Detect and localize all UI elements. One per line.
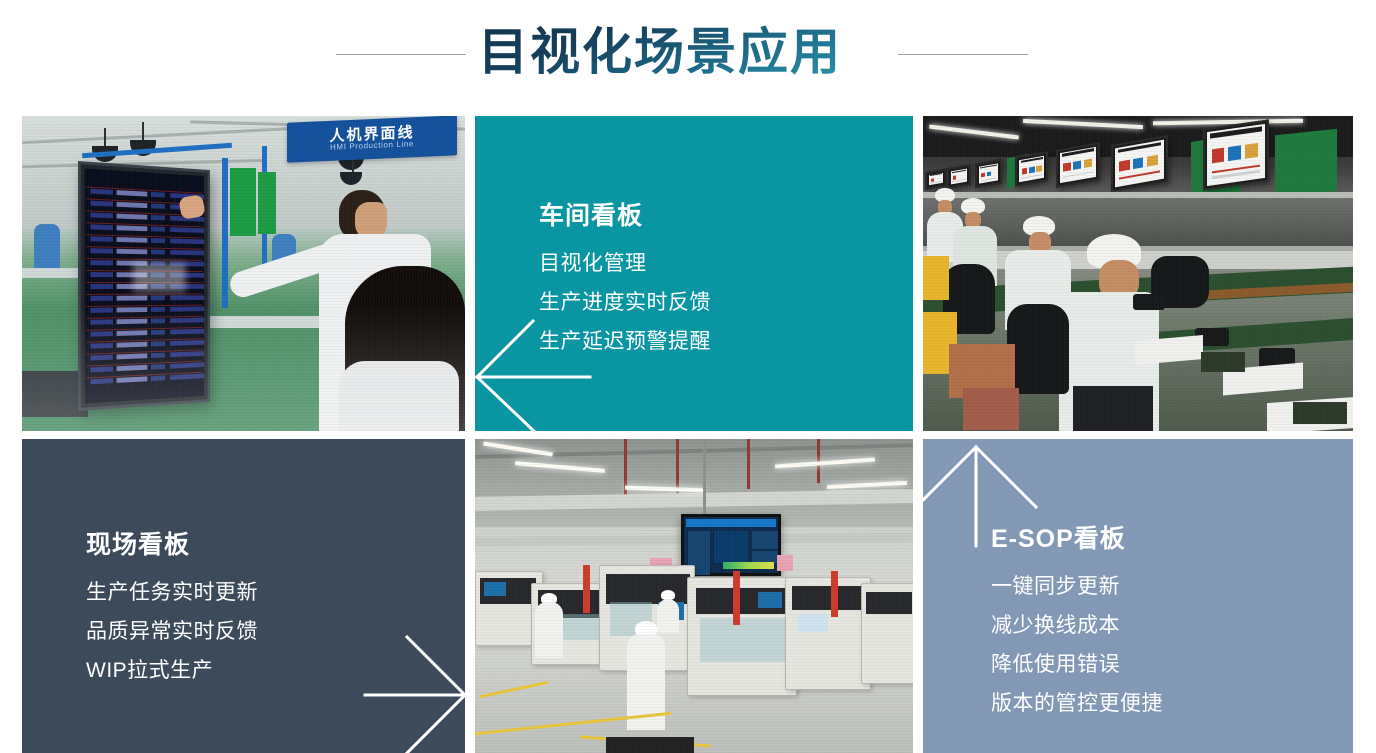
esop-monitor [1111, 135, 1168, 192]
hmi-line-banner: 人机界面线 HMI Production Line [287, 116, 457, 163]
page-header: 目视化场景应用 [0, 0, 1376, 112]
page-title: 目视化场景应用 [478, 22, 842, 82]
esop-kanban-line-1: 一键同步更新 [991, 567, 1163, 606]
cardboard-box [963, 388, 1019, 430]
card-site-kanban: 现场看板 生产任务实时更新 品质异常实时反馈 WIP拉式生产 [22, 439, 465, 753]
photo-card-smt-floor [475, 439, 913, 753]
card-esop-kanban: E-SOP看板 一键同步更新 减少换线成本 降低使用错误 版本的管控更便捷 [923, 439, 1353, 753]
site-kanban-line-3: WIP拉式生产 [86, 651, 258, 690]
photo-esop-line-image [923, 116, 1353, 431]
photo-kanban-board-image: 人机界面线 HMI Production Line [22, 116, 465, 431]
work-mat [1135, 335, 1203, 365]
esop-monitor [947, 164, 971, 189]
esop-monitor [1203, 119, 1269, 190]
pcb-board [1293, 402, 1347, 424]
site-kanban-heading: 现场看板 [86, 530, 258, 560]
monitor-progress-bar [723, 562, 774, 569]
smt-machine [861, 583, 913, 683]
workshop-kanban-panel: 车间看板 目视化管理 生产进度实时反馈 生产延迟预警提醒 [475, 116, 913, 431]
esop-monitor [975, 159, 1002, 189]
worker-trousers [1073, 386, 1153, 431]
esop-kanban-heading: E-SOP看板 [991, 524, 1163, 554]
esop-monitor [1015, 151, 1048, 187]
green-panel [230, 168, 256, 236]
zone-sign [777, 555, 793, 571]
page-root: 目视化场景应用 人机界面线 HMI Production Line [0, 0, 1376, 753]
smt-machine [785, 577, 871, 690]
workshop-kanban-line-1: 目视化管理 [539, 244, 711, 283]
photo-card-kanban-board: 人机界面线 HMI Production Line [22, 116, 465, 431]
esop-kanban-line-2: 减少换线成本 [991, 606, 1163, 645]
monitor-mount [703, 439, 706, 514]
ceiling-monitor [681, 514, 781, 576]
workshop-kanban-text: 车间看板 目视化管理 生产进度实时反馈 生产延迟预警提醒 [539, 201, 711, 361]
worker-gown [657, 599, 679, 633]
esop-kanban-panel: E-SOP看板 一键同步更新 减少换线成本 降低使用错误 版本的管控更便捷 [923, 439, 1353, 753]
yellow-bin [923, 256, 949, 300]
title-rule-right-decoration [898, 54, 1028, 55]
photo-card-esop-line [923, 116, 1353, 431]
photo-smt-floor-image [475, 439, 913, 753]
card-workshop-kanban: 车间看板 目视化管理 生产进度实时反馈 生产延迟预警提醒 [475, 116, 913, 431]
esop-kanban-line-3: 降低使用错误 [991, 645, 1163, 684]
esop-kanban-line-4: 版本的管控更便捷 [991, 684, 1163, 723]
monitor-panel [714, 531, 748, 563]
site-kanban-line-2: 品质异常实时反馈 [86, 612, 258, 651]
andon-tower-light [831, 571, 838, 617]
workshop-kanban-heading: 车间看板 [539, 201, 711, 231]
esop-kanban-text: E-SOP看板 一键同步更新 减少换线成本 降低使用错误 版本的管控更便捷 [991, 524, 1163, 723]
esop-monitor [925, 168, 947, 190]
product-unit [1133, 294, 1165, 310]
monitor-panel [752, 531, 778, 549]
scenario-grid: 人机界面线 HMI Production Line [22, 116, 1353, 753]
andon-tower-light [583, 565, 590, 613]
site-kanban-panel: 现场看板 生产任务实时更新 品质异常实时反馈 WIP拉式生产 [22, 439, 465, 753]
ceiling-pipe [747, 439, 750, 489]
site-kanban-line-1: 生产任务实时更新 [86, 573, 258, 612]
andon-tower-light [733, 571, 740, 625]
floor-reflection [22, 305, 465, 431]
monitor-header-bar [686, 519, 776, 527]
esop-monitor [1056, 142, 1100, 188]
pcb-board [1201, 352, 1245, 372]
line-rack-post [222, 158, 228, 308]
worker-gown [535, 602, 563, 658]
green-panel [258, 172, 276, 234]
workshop-kanban-line-2: 生产进度实时反馈 [539, 283, 711, 322]
title-rule-left-decoration [336, 54, 466, 55]
work-chair [1007, 304, 1069, 394]
workshop-kanban-line-3: 生产延迟预警提醒 [539, 322, 711, 361]
site-kanban-text: 现场看板 生产任务实时更新 品质异常实时反馈 WIP拉式生产 [86, 530, 258, 690]
floor-marking [479, 681, 548, 699]
floor-mat [606, 737, 694, 753]
smt-machine [687, 577, 797, 696]
green-board [1275, 129, 1337, 198]
background-worker [34, 224, 60, 270]
